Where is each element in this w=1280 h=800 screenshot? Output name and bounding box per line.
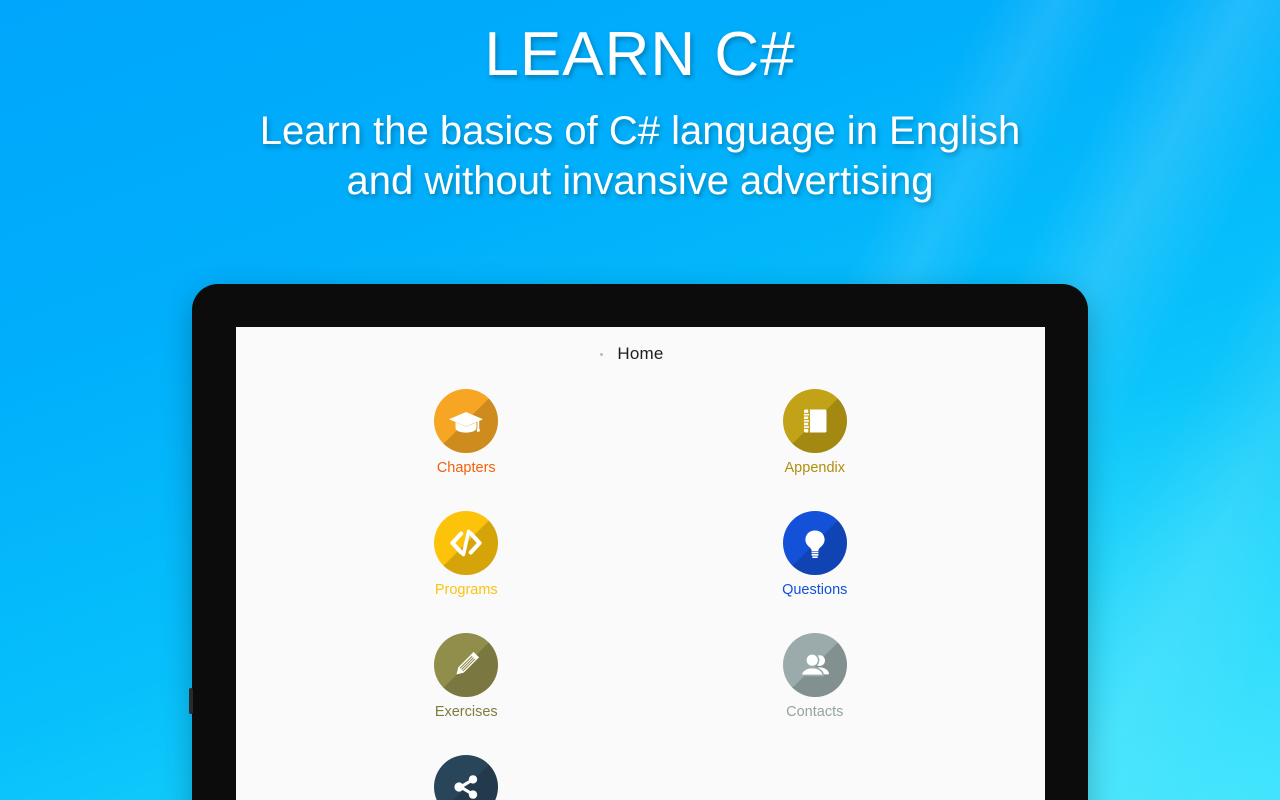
chapters-icon-circle[interactable] [434,389,498,453]
menu-item-programs-label: Programs [435,583,498,599]
promo-headline: LEARN C# Learn the basics of C# language… [0,24,1280,206]
menu-item-exercises-label: Exercises [435,705,498,721]
tablet-device-mockup: Home Chapters [192,284,1088,800]
exercises-icon-circle[interactable] [434,633,498,697]
share-nodes-icon [446,767,486,800]
menu-item-questions-label: Questions [782,583,847,599]
menu-item-exercises[interactable]: Exercises [386,633,546,721]
menu-item-appendix[interactable]: Appendix [735,389,895,477]
menu-item-programs[interactable]: Programs [386,511,546,599]
code-brackets-icon [445,522,487,564]
promo-subtitle: Learn the basics of C# language in Engli… [0,106,1280,206]
tablet-screen: Home Chapters [236,327,1045,800]
menu-item-share[interactable]: Share [386,755,546,800]
promo-subtitle-line-2: and without invansive advertising [0,156,1280,206]
promo-title: LEARN C# [0,24,1280,86]
contacts-icon-circle[interactable] [783,633,847,697]
pencil-icon [446,645,486,685]
lightbulb-icon [795,523,835,563]
contacts-people-icon [795,645,835,685]
share-icon-circle[interactable] [434,755,498,800]
questions-icon-circle[interactable] [783,511,847,575]
tablet-side-button[interactable] [189,688,193,714]
menu-item-chapters-label: Chapters [437,461,496,477]
appendix-icon-circle[interactable] [783,389,847,453]
app-toolbar-title: Home [236,344,1045,364]
notebook-icon [795,401,835,441]
home-menu-grid: Chapters Appendix [236,389,1045,800]
promo-subtitle-line-1: Learn the basics of C# language in Engli… [0,106,1280,156]
menu-item-contacts-label: Contacts [786,705,843,721]
programs-icon-circle[interactable] [434,511,498,575]
menu-item-contacts[interactable]: Contacts [735,633,895,721]
menu-item-chapters[interactable]: Chapters [386,389,546,477]
graduation-cap-icon [446,401,486,441]
menu-item-questions[interactable]: Questions [735,511,895,599]
menu-item-appendix-label: Appendix [785,461,845,477]
app-toolbar: Home [236,327,1045,383]
screenshot-stage: LEARN C# Learn the basics of C# language… [0,0,1280,800]
